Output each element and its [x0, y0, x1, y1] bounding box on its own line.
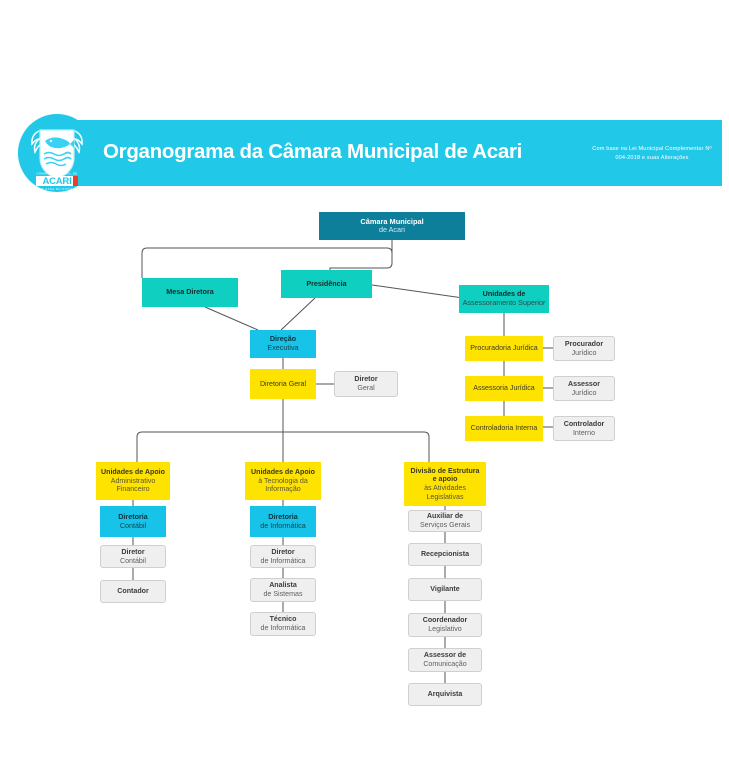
node-tecnico-informatica[interactable]: Técnico de Informática	[250, 612, 316, 636]
node-presidencia[interactable]: Presidência	[281, 270, 372, 298]
node-line-2: Legislativo	[428, 625, 462, 634]
node-diretoria-informatica[interactable]: Diretoria de Informática	[250, 506, 316, 537]
node-diretoria-geral[interactable]: Diretoria Geral	[250, 369, 316, 399]
node-line-2: Contábil	[120, 522, 146, 531]
node-line-1: Procuradoria Jurídica	[470, 344, 537, 353]
node-line-2: às Atividades	[424, 484, 466, 493]
node-line-1: Assessor de	[424, 651, 466, 660]
node-line-1: Técnico	[270, 615, 297, 624]
node-line-2: Administrativo	[111, 477, 156, 486]
org-chart: Câmara Municipal de Acari Mesa Diretora …	[0, 0, 729, 768]
node-line-2: de Informática	[261, 557, 306, 566]
node-line-1: Mesa Diretora	[166, 288, 214, 297]
node-line-2: Comunicação	[423, 660, 466, 669]
node-unidades-apoio-tecnologia-informacao[interactable]: Unidades de Apoio à Tecnologia da Inform…	[245, 462, 321, 500]
node-line-1: Divisão de Estrutura	[411, 467, 480, 476]
node-line-2: de Informática	[260, 522, 306, 531]
node-assessor-comunicacao[interactable]: Assessor de Comunicação	[408, 648, 482, 672]
node-line-1: Unidades de Apoio	[101, 468, 165, 477]
node-line-1: Arquivista	[428, 690, 463, 699]
node-diretor-geral[interactable]: Diretor Geral	[334, 371, 398, 397]
node-line-1: Assessoria Jurídica	[473, 384, 535, 393]
node-auxiliar-servicos-gerais[interactable]: Auxiliar de Serviços Gerais	[408, 510, 482, 532]
node-vigilante[interactable]: Vigilante	[408, 578, 482, 601]
node-unidades-apoio-administrativo-financeiro[interactable]: Unidades de Apoio Administrativo Finance…	[96, 462, 170, 500]
node-diretor-informatica[interactable]: Diretor de Informática	[250, 545, 316, 568]
node-controladoria-interna[interactable]: Controladoria Interna	[465, 416, 543, 441]
node-line-1: Controlador	[564, 420, 605, 429]
node-line-1: Controladoria Interna	[471, 424, 538, 433]
node-line-1: Diretor	[271, 548, 294, 557]
node-line-1: Recepcionista	[421, 550, 469, 559]
node-line-2: de Acari	[379, 226, 405, 235]
node-line-2: Serviços Gerais	[420, 521, 470, 530]
node-assessor-juridico[interactable]: Assessor Jurídico	[553, 376, 615, 401]
node-line-1: Diretor	[354, 375, 377, 384]
node-recepcionista[interactable]: Recepcionista	[408, 543, 482, 566]
node-line-2: Jurídico	[572, 389, 597, 398]
node-line-2: Jurídico	[572, 349, 597, 358]
node-line-3: Legislativas	[426, 493, 463, 502]
node-assessoria-juridica[interactable]: Assessoria Jurídica	[465, 376, 543, 401]
node-line-1: Vigilante	[430, 585, 459, 594]
node-unidades-assessoramento-superior[interactable]: Unidades de Assessoramento Superior	[459, 285, 549, 313]
node-line-1: Coordenador	[423, 616, 468, 625]
node-line-2: Assessoramento Superior	[463, 299, 546, 308]
node-line-3: Informação	[265, 485, 301, 494]
node-mesa-diretora[interactable]: Mesa Diretora	[142, 278, 238, 307]
node-diretoria-contabil[interactable]: Diretoria Contábil	[100, 506, 166, 537]
node-line-1: Auxiliar de	[427, 512, 463, 521]
node-line-1: Diretor	[121, 548, 144, 557]
node-camara-municipal[interactable]: Câmara Municipal de Acari	[319, 212, 465, 240]
node-coordenador-legislativo[interactable]: Coordenador Legislativo	[408, 613, 482, 637]
node-line-1: Procurador	[565, 340, 603, 349]
node-line-1: Unidades de Apoio	[251, 468, 315, 477]
node-line-1b: e apoio	[433, 475, 458, 484]
node-line-2: de Informática	[261, 624, 306, 633]
node-line-1: Diretoria Geral	[260, 380, 306, 389]
node-controlador-interno[interactable]: Controlador Interno	[553, 416, 615, 441]
node-analista-sistemas[interactable]: Analista de Sistemas	[250, 578, 316, 602]
node-line-1: Analista	[269, 581, 297, 590]
node-line-2: Geral	[357, 384, 374, 393]
node-arquivista[interactable]: Arquivista	[408, 683, 482, 706]
node-line-2: Contábil	[120, 557, 146, 566]
node-line-2: Executiva	[267, 344, 298, 353]
node-line-1: Presidência	[306, 280, 346, 289]
node-line-1: Assessor	[568, 380, 600, 389]
node-line-3: Financeiro	[116, 485, 149, 494]
node-divisao-estrutura-apoio-atividades-legislativas[interactable]: Divisão de Estrutura e apoio às Atividad…	[404, 462, 486, 506]
node-line-2: de Sistemas	[263, 590, 302, 599]
node-procurador-juridico[interactable]: Procurador Jurídico	[553, 336, 615, 361]
node-line-1: Contador	[117, 587, 149, 596]
node-contador[interactable]: Contador	[100, 580, 166, 603]
node-line-2: à Tecnologia da	[258, 477, 308, 486]
node-line-2: Interno	[573, 429, 595, 438]
node-direcao-executiva[interactable]: Direção Executiva	[250, 330, 316, 358]
node-procuradoria-juridica[interactable]: Procuradoria Jurídica	[465, 336, 543, 361]
node-diretor-contabil[interactable]: Diretor Contábil	[100, 545, 166, 568]
